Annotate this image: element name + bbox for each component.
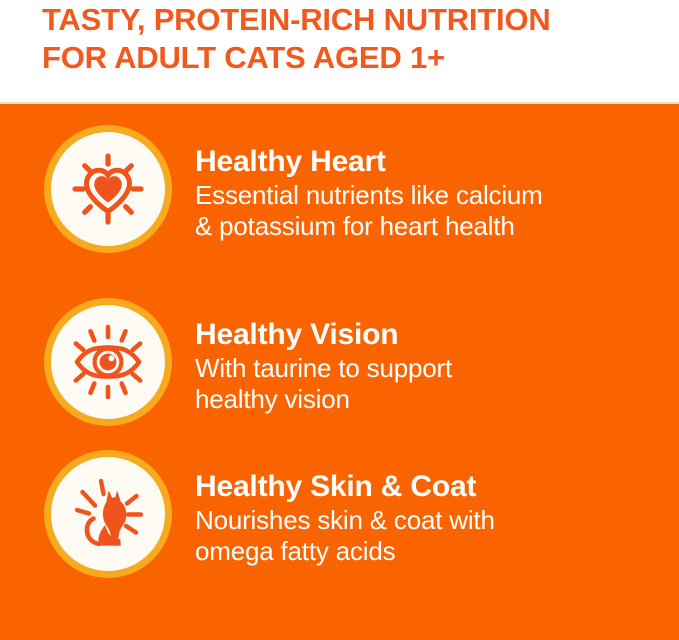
feature-description: Nourishes skin & coat with omega fatty a… [195, 505, 665, 567]
feature-text-block: Healthy Vision With taurine to support h… [195, 318, 665, 415]
nutrition-benefits-banner: TASTY, PROTEIN-RICH NUTRITION FOR ADULT … [0, 0, 679, 640]
feature-icon-badge [44, 125, 172, 253]
feature-row: Healthy Skin & Coat Nourishes skin & coa… [0, 450, 679, 592]
page-title: TASTY, PROTEIN-RICH NUTRITION FOR ADULT … [42, 1, 662, 77]
feature-icon-badge [44, 450, 172, 578]
radiant-eye-icon [51, 305, 165, 419]
feature-title: Healthy Skin & Coat [195, 470, 665, 504]
feature-text-block: Healthy Heart Essential nutrients like c… [195, 145, 665, 242]
feature-row: Healthy Vision With taurine to support h… [0, 298, 679, 440]
feature-icon-badge [44, 298, 172, 426]
feature-description: Essential nutrients like calcium & potas… [195, 180, 665, 242]
header-divider [0, 102, 679, 104]
header-band: TASTY, PROTEIN-RICH NUTRITION FOR ADULT … [0, 0, 679, 104]
radiant-heart-icon [51, 132, 165, 246]
feature-text-block: Healthy Skin & Coat Nourishes skin & coa… [195, 470, 665, 567]
feature-description: With taurine to support healthy vision [195, 353, 665, 415]
feature-row: Healthy Heart Essential nutrients like c… [0, 125, 679, 267]
feature-title: Healthy Heart [195, 145, 665, 179]
feature-title: Healthy Vision [195, 318, 665, 352]
radiant-cat-icon [51, 457, 165, 571]
